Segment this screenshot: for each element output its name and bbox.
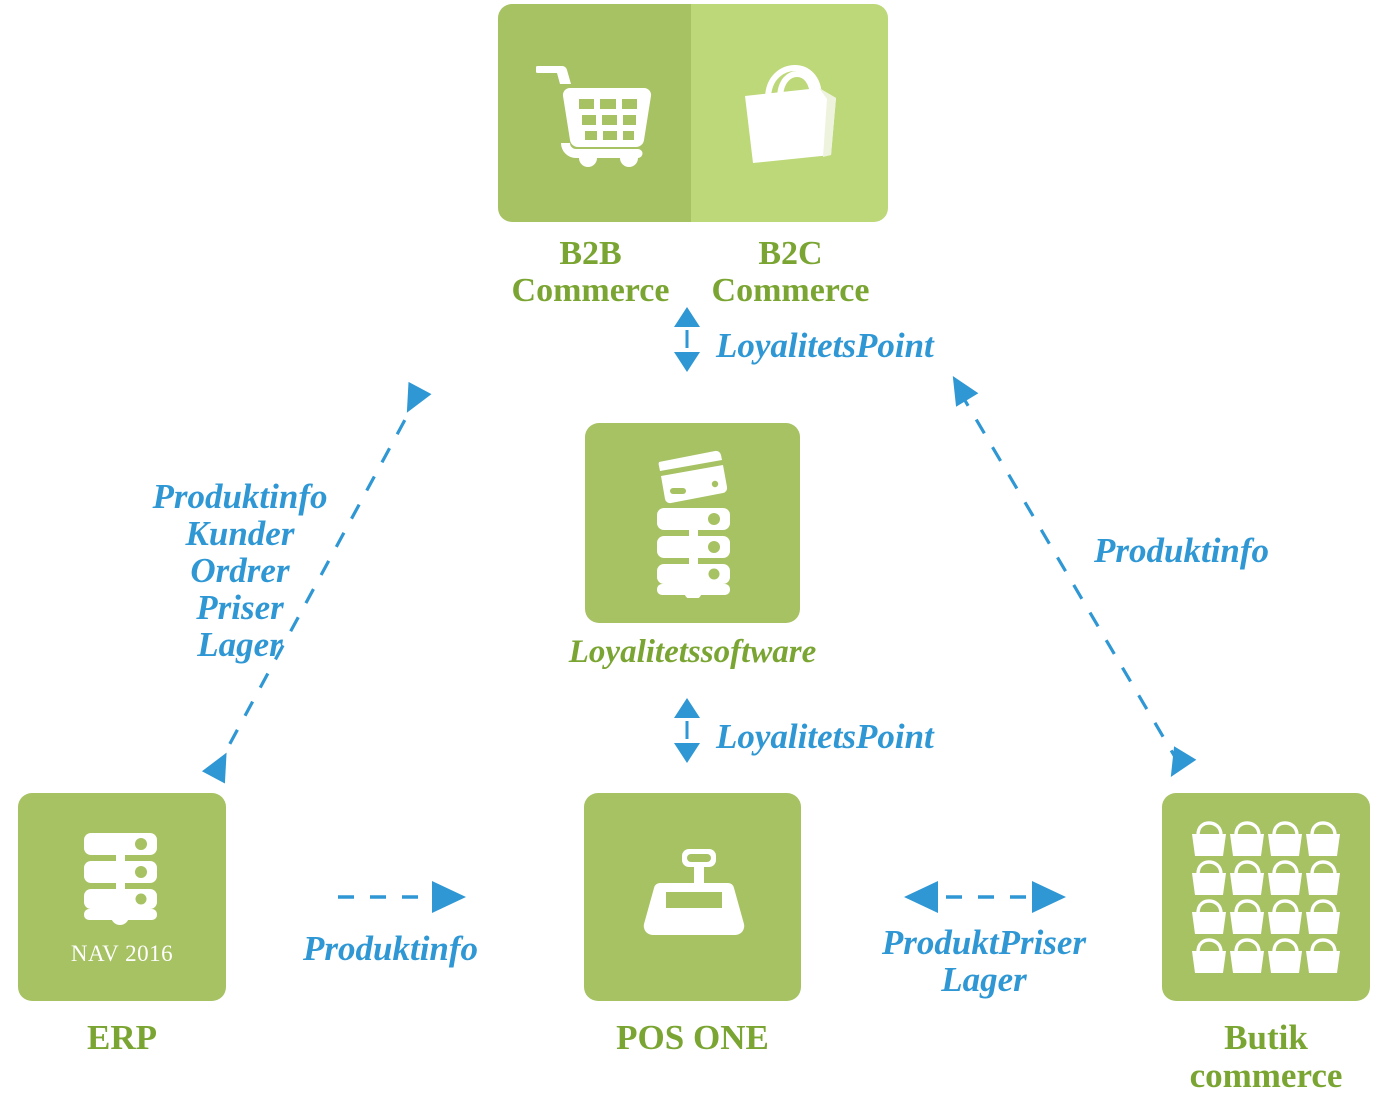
edge-loyalty-pos	[674, 698, 700, 763]
erp-inner-text: NAV 2016	[71, 941, 173, 967]
pos-label: POS ONE	[616, 1019, 769, 1057]
edge-label-pos-butik: ProduktPriser Lager	[864, 924, 1104, 998]
commerce-labels: B2B Commerce B2C Commerce	[498, 236, 888, 309]
pos-tile[interactable]	[584, 793, 801, 1001]
shopping-cart-icon	[536, 59, 654, 167]
edge-label-commerce-loyalty: LoyalitetsPoint	[716, 327, 934, 364]
b2b-label: B2B Commerce	[498, 236, 683, 309]
b2c-label: B2C Commerce	[693, 236, 888, 309]
node-butik[interactable]: Butik commerce	[1162, 793, 1370, 1095]
node-pos[interactable]: POS ONE	[584, 793, 801, 1057]
server-rack-icon	[76, 827, 168, 939]
butik-label: Butik commerce	[1190, 1019, 1343, 1095]
cash-register-icon	[638, 845, 748, 949]
b2b-half[interactable]	[498, 4, 691, 222]
edge-commerce-loyalty	[674, 307, 700, 372]
diagram-canvas: B2B Commerce B2C Commerce	[0, 0, 1384, 1100]
edge-label-commerce-erp: Produktinfo Kunder Ordrer Priser Lager	[140, 478, 340, 663]
erp-tile[interactable]: NAV 2016	[18, 793, 226, 1001]
credit-card-server-icon	[630, 448, 755, 598]
node-erp[interactable]: NAV 2016 ERP	[18, 793, 226, 1057]
edge-erp-pos	[338, 881, 466, 913]
edge-label-erp-pos: Produktinfo	[303, 930, 478, 967]
shopping-basket-grid-icon	[1186, 817, 1346, 977]
edge-commerce-butik	[942, 369, 1197, 783]
butik-tile[interactable]	[1162, 793, 1370, 1001]
node-loyalty[interactable]: Loyalitetssoftware	[585, 423, 800, 671]
b2c-half[interactable]	[691, 4, 888, 222]
node-commerce[interactable]: B2B Commerce B2C Commerce	[498, 4, 888, 309]
shopping-bag-icon	[735, 58, 845, 168]
loyalty-tile[interactable]	[585, 423, 800, 623]
edge-label-loyalty-pos: LoyalitetsPoint	[716, 718, 934, 755]
loyalty-label: Loyalitetssoftware	[569, 635, 816, 671]
edge-label-commerce-butik: Produktinfo	[1094, 532, 1269, 569]
edge-pos-butik	[904, 881, 1066, 913]
commerce-tile[interactable]	[498, 4, 888, 222]
erp-label: ERP	[87, 1019, 157, 1057]
